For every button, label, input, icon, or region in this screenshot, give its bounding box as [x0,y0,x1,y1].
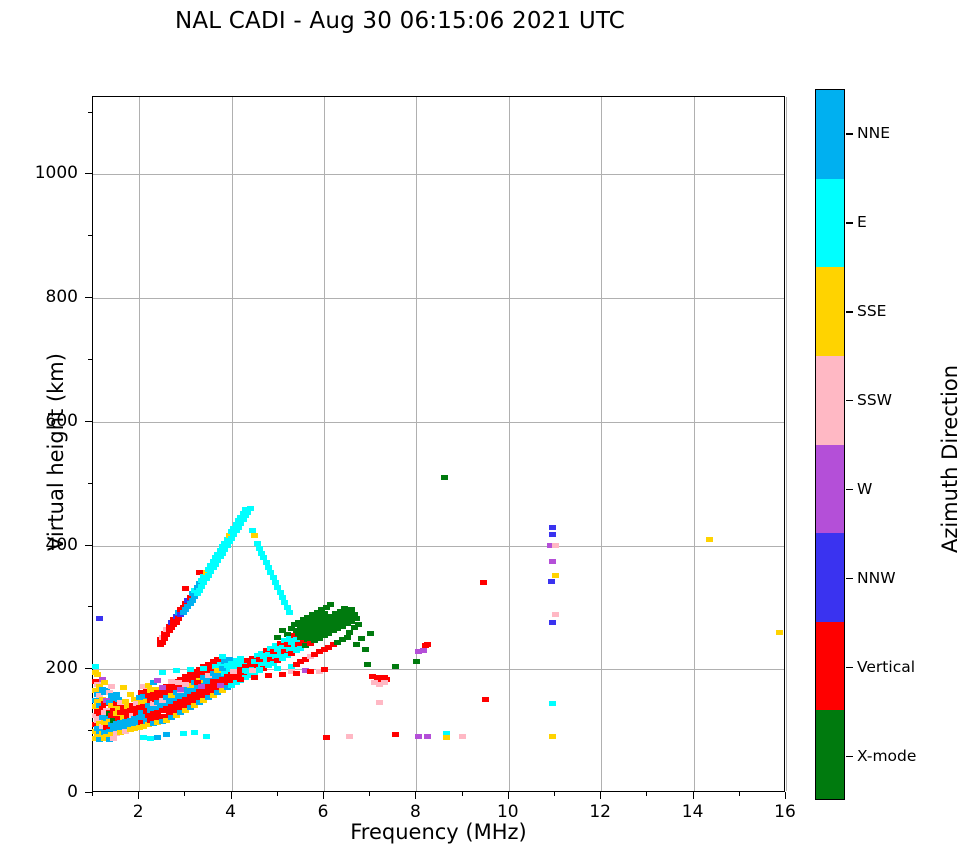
colorbar-segment-ssw[interactable] [816,356,844,445]
data-point [362,647,369,652]
y-tick [85,421,92,422]
x-tick [693,792,694,799]
data-point [173,668,180,673]
data-point [293,671,300,676]
data-point [376,700,383,705]
data-point [548,579,555,584]
data-point [367,631,374,636]
colorbar-segment-w[interactable] [816,445,844,534]
y-tick [85,668,92,669]
data-point [549,734,556,739]
data-point [358,636,365,641]
data-point [307,669,314,674]
colorbar-tick [846,311,853,312]
colorbar-segment-vertical[interactable] [816,622,844,711]
data-point [177,687,184,692]
colorbar-tick [846,489,853,490]
data-point [265,673,272,678]
data-point [323,735,330,740]
data-point [154,735,161,740]
data-point [549,559,556,564]
y-tick-label: 200 [8,658,78,678]
colorbar-segment-sse[interactable] [816,267,844,356]
data-point [552,573,559,578]
y-tick-label: 0 [8,782,78,802]
data-point [224,678,231,683]
x-tick-minor [184,792,185,796]
data-point [552,543,559,548]
x-tick-label: 12 [570,802,630,822]
x-tick-label: 10 [478,802,538,822]
y-tick [85,545,92,546]
colorbar-tick [846,756,853,757]
y-tick-minor [88,483,92,484]
plot-area [92,96,785,792]
data-point [180,731,187,736]
y-tick [85,173,92,174]
y-tick-minor [88,359,92,360]
y-tick-label: 1000 [8,163,78,183]
data-point [706,537,713,542]
data-point [327,602,334,607]
x-tick-label: 14 [663,802,723,822]
x-tick-minor [277,792,278,796]
data-point [549,532,556,537]
colorbar-label-x-mode: X-mode [857,747,916,765]
data-point [364,662,371,667]
x-tick-minor [369,792,370,796]
x-tick [415,792,416,799]
x-tick-minor [92,792,93,796]
data-point [217,683,224,688]
data-point [230,669,237,674]
colorbar-segment-nne[interactable] [816,90,844,179]
data-point [415,734,422,739]
data-point [154,678,161,683]
data-point [353,616,360,621]
data-point [92,664,99,669]
data-point [355,622,362,627]
data-point [279,672,286,677]
data-point [392,664,399,669]
data-point [776,630,783,635]
data-point [187,667,194,672]
x-tick-minor [739,792,740,796]
colorbar-segment-x-mode[interactable] [816,710,844,799]
y-tick-minor [88,112,92,113]
ionogram-page: NAL CADI - Aug 30 06:15:06 2021 UTC 2468… [0,0,958,857]
data-point [249,668,256,673]
data-point [147,736,154,741]
data-point [549,525,556,530]
y-tick-minor [88,235,92,236]
colorbar-tick [846,667,853,668]
data-point [251,533,258,538]
data-point [159,670,166,675]
data-point [552,612,559,617]
data-point [344,635,351,640]
data-point [247,506,254,511]
x-tick-minor [646,792,647,796]
data-point [381,680,388,685]
y-tick-minor [88,606,92,607]
data-point [459,734,466,739]
data-point [549,701,556,706]
data-point [108,684,115,689]
x-tick-label: 8 [385,802,445,822]
colorbar-label-sse: SSE [857,302,886,320]
data-point [168,679,175,684]
y-axis-title: Virtual height (km) [44,302,68,602]
data-point [321,667,328,672]
data-point [443,735,450,740]
data-point [392,732,399,737]
x-tick [323,792,324,799]
data-point [441,475,448,480]
colorbar-label-nne: NNE [857,124,890,142]
data-point [120,685,127,690]
x-tick [785,792,786,799]
colorbar[interactable] [815,89,845,800]
data-point [274,666,281,671]
y-tick-minor [88,730,92,731]
data-point [200,666,207,671]
data-point [482,697,489,702]
colorbar-label-nnw: NNW [857,569,896,587]
colorbar-tick [846,400,853,401]
data-point [353,642,360,647]
data-point [256,667,263,672]
data-point [110,736,117,741]
colorbar-tick [846,578,853,579]
page-title: NAL CADI - Aug 30 06:15:06 2021 UTC [0,8,800,34]
colorbar-label-w: W [857,480,872,498]
data-point [163,732,170,737]
x-tick-label: 16 [755,802,815,822]
x-tick-label: 4 [201,802,261,822]
data-point [286,610,293,615]
data-point [237,677,244,682]
colorbar-label-ssw: SSW [857,391,892,409]
x-tick [600,792,601,799]
data-point [159,685,166,690]
data-point [424,642,431,647]
colorbar-title: Azimuth Direction [938,299,958,619]
data-point [191,730,198,735]
colorbar-label-e: E [857,213,867,231]
data-point [198,684,205,689]
data-points-layer [93,97,784,791]
x-axis-title: Frequency (MHz) [92,820,785,844]
colorbar-segment-e[interactable] [816,179,844,268]
gridline-vertical [786,97,787,791]
colorbar-label-vertical: Vertical [857,658,915,676]
data-point [549,620,556,625]
x-tick-minor [462,792,463,796]
data-point [96,616,103,621]
data-point [203,734,210,739]
colorbar-tick [846,222,853,223]
x-tick-label: 6 [293,802,353,822]
x-tick-label: 2 [108,802,168,822]
colorbar-segment-nnw[interactable] [816,533,844,622]
data-point [420,648,427,653]
data-point [413,659,420,664]
data-point [346,734,353,739]
data-point [480,580,487,585]
x-tick-minor [554,792,555,796]
x-tick [508,792,509,799]
colorbar-tick [846,133,853,134]
data-point [346,630,353,635]
data-point [251,675,258,680]
x-tick [231,792,232,799]
data-point [424,734,431,739]
y-tick [85,792,92,793]
data-point [140,735,147,740]
y-tick [85,297,92,298]
x-tick [138,792,139,799]
